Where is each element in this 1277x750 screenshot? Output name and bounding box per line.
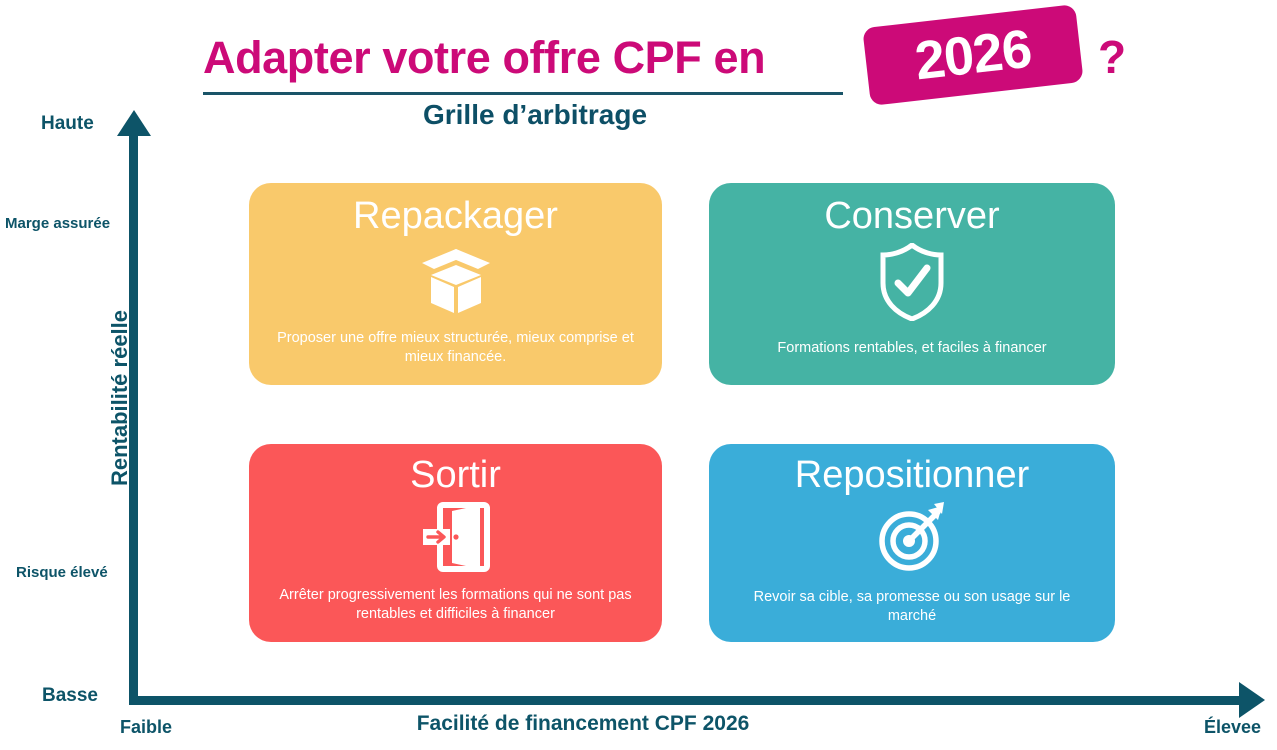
title-main-text: Adapter votre offre CPF en [203, 35, 765, 80]
quadrant-title-repackager: Repackager [353, 197, 558, 235]
x-axis-title: Facilité de financement CPF 2026 [0, 712, 1166, 736]
year-badge: 2026 [862, 4, 1083, 106]
y-axis-tick-low: Risque élevé [16, 564, 108, 581]
y-axis-title: Rentabilité réelle [107, 268, 133, 528]
arbitration-matrix-slide: Adapter votre offre CPF en 2026 ? Grille… [0, 0, 1277, 750]
x-axis-right-label: Élevee [1204, 717, 1261, 738]
quadrant-title-repositionner: Repositionner [795, 456, 1029, 494]
quadrant-card-conserver[interactable]: Conserver Formations rentables, et facil… [709, 183, 1115, 385]
quadrant-card-repositionner[interactable]: Repositionner Revoir sa cible, sa promes… [709, 444, 1115, 642]
y-axis-arrow-icon [117, 110, 151, 136]
quadrant-description-repositionner: Revoir sa cible, sa promesse ou son usag… [709, 588, 1115, 625]
y-axis-top-label: Haute [41, 113, 94, 135]
y-axis-bottom-label: Basse [42, 685, 98, 707]
quadrant-description-conserver: Formations rentables, et faciles à finan… [709, 339, 1115, 358]
quadrant-title-conserver: Conserver [824, 197, 999, 235]
page-subtitle: Grille d’arbitrage [0, 99, 1070, 131]
quadrant-card-repackager[interactable]: Repackager Proposer une offre mieux stru… [249, 183, 662, 385]
quadrant-card-sortir[interactable]: Sortir Arrêter progressivement les forma… [249, 444, 662, 642]
quadrant-description-sortir: Arrêter progressivement les formations q… [249, 586, 662, 623]
x-axis-line [129, 696, 1247, 705]
open-box-icon [419, 247, 493, 315]
y-axis-tick-high: Marge assurée [5, 215, 110, 232]
page-title: Adapter votre offre CPF en [203, 26, 963, 88]
title-underline-rule [203, 92, 843, 95]
quadrant-title-sortir: Sortir [410, 456, 501, 494]
question-mark: ? [1098, 34, 1126, 80]
exit-door-icon [422, 502, 490, 572]
x-axis-arrow-icon [1239, 682, 1265, 718]
year-badge-label: 2026 [912, 22, 1034, 89]
target-dart-icon [876, 502, 948, 572]
shield-check-icon [880, 243, 944, 321]
header: Adapter votre offre CPF en 2026 ? Grille… [0, 0, 1277, 145]
quadrant-description-repackager: Proposer une offre mieux structurée, mie… [249, 329, 662, 366]
